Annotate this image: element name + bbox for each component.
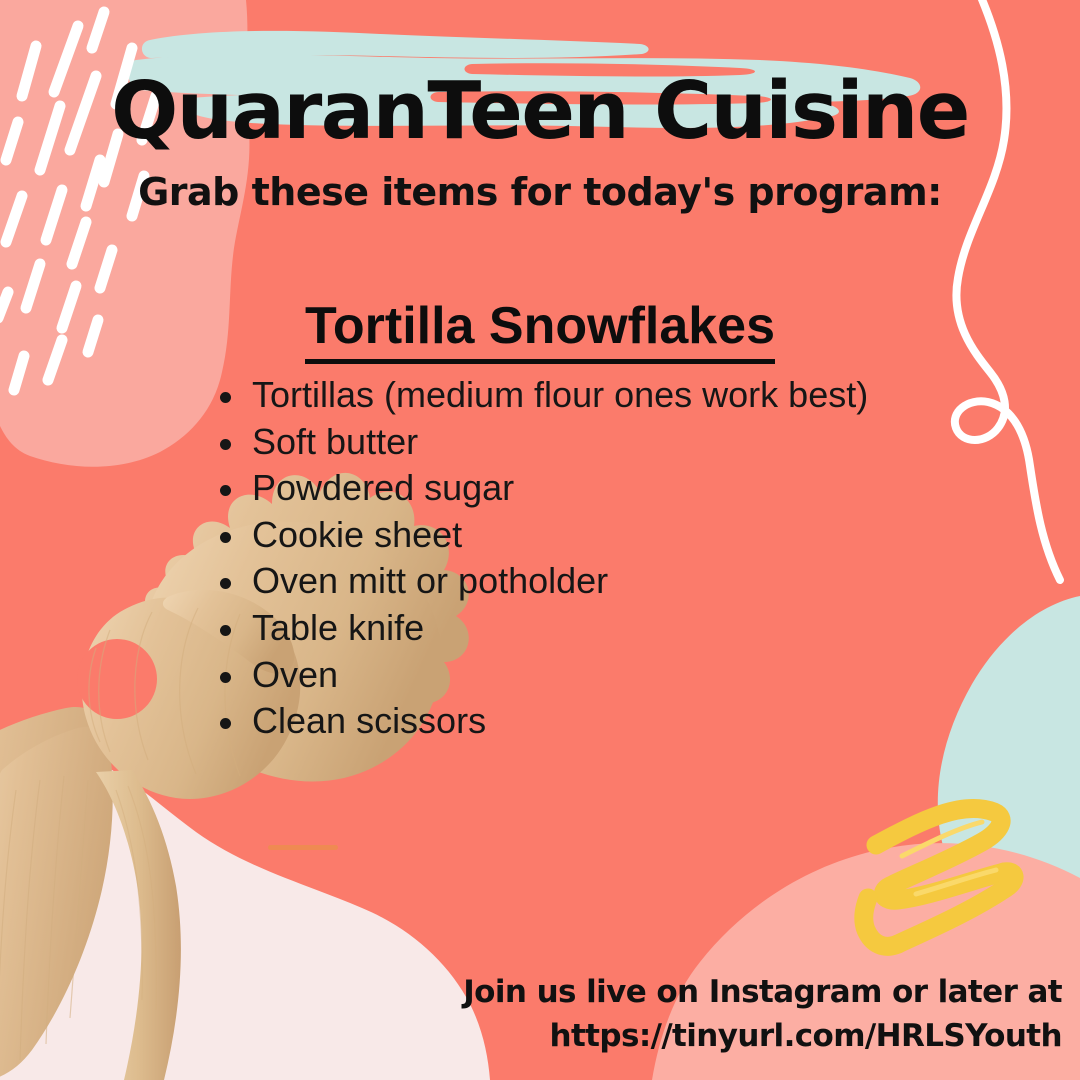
list-item: Oven mitt or potholder [210, 558, 1010, 605]
footer-link: https://tinyurl.com/HRLSYouth [463, 1014, 1062, 1058]
subtitle: Grab these items for today's program: [0, 170, 1080, 214]
list-item: Cookie sheet [210, 512, 1010, 559]
page-title: QuaranTeen Cuisine [0, 72, 1080, 151]
ingredient-list: Tortillas (medium flour ones work best) … [210, 372, 1010, 745]
list-item: Clean scissors [210, 698, 1010, 745]
list-item: Soft butter [210, 419, 1010, 466]
recipe-title: Tortilla Snowflakes [0, 296, 1080, 356]
recipe-title-text: Tortilla Snowflakes [305, 297, 775, 364]
list-item: Tortillas (medium flour ones work best) [210, 372, 1010, 419]
list-item: Table knife [210, 605, 1010, 652]
footer-line-1: Join us live on Instagram or later at [463, 970, 1062, 1014]
footer-note: Join us live on Instagram or later at ht… [463, 970, 1062, 1058]
poster-canvas: QuaranTeen Cuisine Grab these items for … [0, 0, 1080, 1080]
orange-dash-line [268, 845, 338, 850]
list-item: Oven [210, 652, 1010, 699]
list-item: Powdered sugar [210, 465, 1010, 512]
